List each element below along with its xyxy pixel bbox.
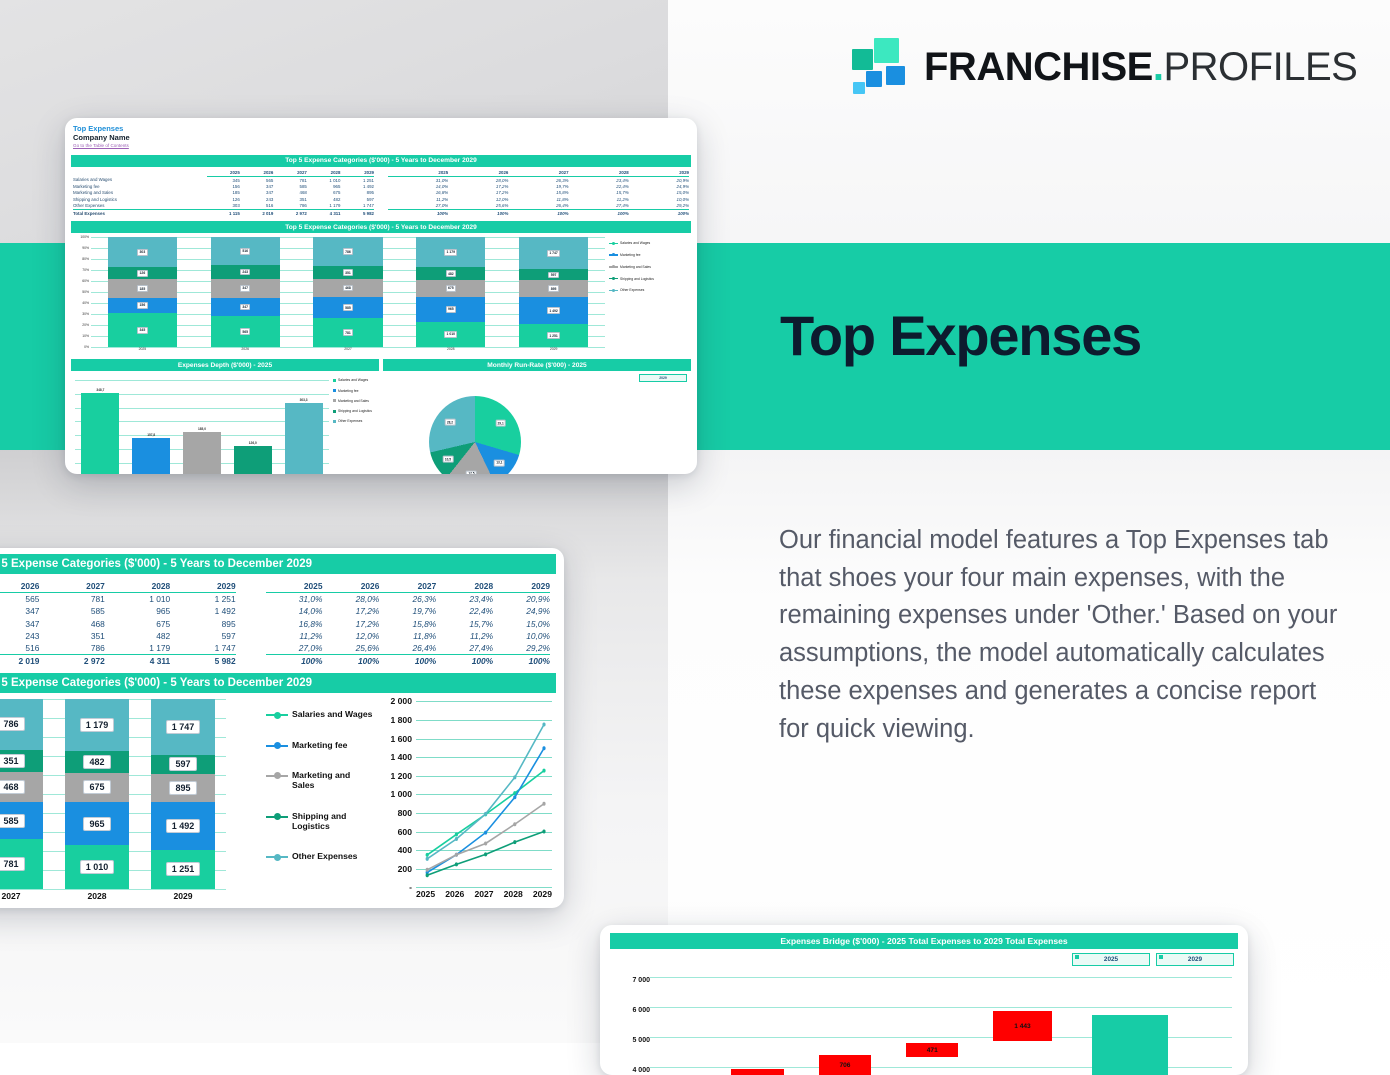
segment-value: 585 <box>343 304 353 311</box>
year-button-2029[interactable]: 2029 <box>1156 953 1234 966</box>
cell: 100% <box>493 655 550 668</box>
segment-value: 243 <box>240 269 250 276</box>
bar-value-label: 185,0 <box>198 427 206 431</box>
bar-value-label: 348,7 <box>96 388 104 392</box>
legend-label: Marketing and Sales <box>620 265 651 269</box>
cell: 1 179 <box>105 642 170 655</box>
stack-segment: 303 <box>108 237 177 267</box>
bar-wrapper: 303,3 <box>285 380 323 474</box>
line-data-point <box>513 823 516 827</box>
x-tick-label: 2027 <box>474 889 493 899</box>
line-data-point <box>426 853 429 857</box>
sheet-title: Top Expenses <box>73 124 697 133</box>
waterfall-plot: 7 0006 0005 0004 000 7064711 443 <box>600 971 1248 1075</box>
year-button-2025[interactable]: 2025 <box>1072 953 1150 966</box>
segment-value: 156 <box>137 302 147 309</box>
cell: 29,2% <box>493 642 550 655</box>
line-data-point <box>513 776 516 780</box>
y-tick-label: 40% <box>82 301 89 305</box>
col-year: 2026 <box>0 580 39 593</box>
segment-value: 351 <box>0 754 25 768</box>
cell: 26,4% <box>508 203 568 210</box>
banner-monthly-run-rate: Monthly Run-Rate ($'000) - 2025 <box>383 359 691 371</box>
table-header-row: 2025 2026 2027 2028 2029 <box>73 170 374 177</box>
legend-item: Shipping and Logistics <box>609 277 691 281</box>
legend-marker <box>609 266 618 267</box>
cell: 303 <box>207 203 240 210</box>
cell: 15,0% <box>493 618 550 630</box>
cell: 23,4% <box>569 177 629 184</box>
cell: 11,8% <box>379 630 436 642</box>
segment-value: 786 <box>0 717 25 731</box>
bar <box>234 446 272 474</box>
banner-categories-chart: Top 5 Expense Categories ($'000) - 5 Yea… <box>0 673 556 693</box>
cell: 895 <box>170 618 235 630</box>
col-year: 2025 <box>207 170 240 177</box>
stacked-column: 565347347243516 <box>211 237 280 347</box>
gridline <box>416 887 552 888</box>
chart-y-axis: 2 0001 8001 6001 4001 2001 0008006004002… <box>374 701 416 887</box>
year-selector-group[interactable]: 2025 2029 <box>1072 953 1234 966</box>
screenshot-card-top-expenses[interactable]: Top Expenses Company Name Go to the Tabl… <box>65 118 697 474</box>
x-tick-label: 2025 <box>416 889 435 899</box>
line-data-point <box>542 802 545 806</box>
table-row: 5167861 1791 747 <box>0 642 236 655</box>
segment-value: 675 <box>446 285 456 292</box>
segment-value: 781 <box>343 329 353 336</box>
stack-segment: 895 <box>519 280 588 297</box>
stack-segment: 126 <box>108 267 177 279</box>
table-total-row: Total Expenses1 1152 0192 9724 3115 982 <box>73 209 374 216</box>
legend-label: Marketing fee <box>620 253 641 257</box>
cell: 516 <box>0 642 39 655</box>
cell: 100% <box>629 209 689 216</box>
table-header-row: 2025 2026 2027 2028 2029 <box>388 170 689 177</box>
segment-value: 786 <box>343 248 353 255</box>
legend-marker <box>609 243 618 244</box>
stack-segment: 781 <box>0 839 43 889</box>
stack-segment: 1 747 <box>151 699 216 754</box>
legend-item: Other Expenses <box>266 851 374 861</box>
bar-value-label: 303,3 <box>300 398 308 402</box>
cell: 20,9% <box>629 177 689 184</box>
stack-segment: 468 <box>0 772 43 802</box>
banner-top-5-categories: Top 5 Expense Categories ($'000) - 5 Yea… <box>71 155 691 167</box>
chart-stacked-detail[interactable]: 7815854683517861 0109656754821 1791 2511… <box>0 695 266 908</box>
cell: 781 <box>273 177 307 184</box>
logo-square-5 <box>853 82 865 94</box>
cell: 5 982 <box>340 209 374 216</box>
cell: 565 <box>240 177 274 184</box>
segment-value: 965 <box>83 817 110 831</box>
cell: 1 251 <box>340 177 374 184</box>
year-selector-2029[interactable]: 2029 <box>639 374 687 382</box>
bar <box>132 438 170 474</box>
y-tick-label: 1 800 <box>390 715 412 725</box>
bar-wrapper: 157,8 <box>132 380 170 474</box>
waterfall-bar: 706 <box>819 1055 871 1075</box>
stack-segment: 585 <box>0 802 43 839</box>
logo-pixel-mark <box>852 38 908 96</box>
row-label: Salaries and Wages <box>73 177 207 184</box>
line-data-point <box>542 747 545 751</box>
tables-row: 2026 2027 2028 2029 5657811 0101 251 347… <box>0 574 564 667</box>
col-year: 2029 <box>629 170 689 177</box>
table-row: 3475859651 492 <box>0 605 236 617</box>
x-tick-label: 2027 <box>344 347 352 351</box>
bar <box>81 393 119 474</box>
stacked-column: 1 2511 4928955971 747 <box>519 237 588 347</box>
segment-value: 1 492 <box>547 307 560 314</box>
chart-x-axis: 20252026202720282029 <box>416 889 552 899</box>
cell: 100% <box>569 209 629 216</box>
stack-segment: 1 179 <box>65 699 130 751</box>
table-row: 243351482597 <box>0 630 236 642</box>
table-values: 2025 2026 2027 2028 2029 Salaries and Wa… <box>73 170 374 217</box>
cell: 243 <box>0 630 39 642</box>
cell: 2 972 <box>273 209 307 216</box>
x-tick-label: 2026 <box>445 889 464 899</box>
chart-line-detail[interactable]: 2 0001 8001 6001 4001 2001 0008006004002… <box>374 695 564 908</box>
line-data-point <box>455 863 458 867</box>
cell: 26,3% <box>508 177 568 184</box>
x-tick-label: 2029 <box>550 347 558 351</box>
cell: 17,2% <box>323 605 380 617</box>
stack-segment: 1 251 <box>519 324 588 347</box>
cell: 597 <box>170 630 235 642</box>
y-tick-label: 30% <box>82 312 89 316</box>
logo-text-dot: . <box>1153 45 1164 89</box>
cell: 28,0% <box>323 593 380 606</box>
charts-row-bottom: 348,7157,8185,0126,0303,3 Salaries and W… <box>71 374 691 474</box>
banner-expenses-depth: Expenses Depth ($'000) - 2025 <box>71 359 379 371</box>
legend-label: Marketing and Sales <box>338 399 369 403</box>
logo-square-1 <box>874 38 899 63</box>
y-tick-label: 10% <box>82 334 89 338</box>
legend-marker <box>609 278 618 279</box>
page-title: Top Expenses <box>780 307 1141 366</box>
stack-segment: 347 <box>211 298 280 317</box>
segment-value: 185 <box>137 285 147 292</box>
chart-y-axis: 100%90%80%70%60%50%40%30%20%10%0% <box>71 237 91 347</box>
legend-marker <box>609 254 618 255</box>
stack-segment: 243 <box>211 265 280 278</box>
segment-value: 1 010 <box>444 331 457 338</box>
col-year: 2027 <box>39 580 104 593</box>
y-tick-label: 200 <box>398 864 412 874</box>
legend-item: Marketing fee <box>333 389 381 393</box>
bar-value-label: 126,0 <box>249 441 257 445</box>
y-tick-label: 60% <box>82 279 89 283</box>
stacked-column: 1 2511 4928955971 747 <box>151 699 216 889</box>
cell: 25,6% <box>448 203 508 210</box>
cell: 16,8% <box>266 618 323 630</box>
pie-data-labels: 29,113,117,510,528,2 <box>429 396 521 474</box>
y-tick-label: - <box>409 882 412 892</box>
sheet-tables: 2025 2026 2027 2028 2029 Salaries and Wa… <box>65 167 697 217</box>
y-tick-label: 1 400 <box>390 752 412 762</box>
stack-segment: 482 <box>65 751 130 772</box>
banner-row-depth-runrate: Expenses Depth ($'000) - 2025 Monthly Ru… <box>71 359 691 371</box>
cell: 100% <box>388 209 448 216</box>
stacked-column: 1 0109656754821 179 <box>416 237 485 347</box>
table-percent-detail: 2025 2026 2027 2028 2029 31,0%28,0%26,3%… <box>266 580 550 667</box>
segment-value: 781 <box>0 857 25 871</box>
pie-slice-label: 10,5 <box>443 456 454 463</box>
line-data-point <box>455 853 458 857</box>
cell: 1 179 <box>307 203 341 210</box>
table-row: 16,8%17,2%15,8%15,7%15,0% <box>266 618 550 630</box>
sheet-company: Company Name <box>73 133 697 142</box>
chart-monthly-run-rate-pie[interactable]: 2029 29,113,117,510,528,2 <box>381 374 691 474</box>
legend-label: Marketing and Sales <box>292 770 374 791</box>
table-row: 347468675895 <box>0 618 236 630</box>
segment-value: 345 <box>137 327 147 334</box>
cell: 100% <box>448 209 508 216</box>
col-year: 2027 <box>273 170 307 177</box>
bar-wrapper: 185,0 <box>183 380 221 474</box>
cell: 14,0% <box>266 605 323 617</box>
table-row: 14,0%17,2%19,7%22,4%24,9% <box>266 605 550 617</box>
pie-slice-label: 13,1 <box>494 460 505 467</box>
legend-item: Shipping and Logistics <box>333 409 381 413</box>
stack-segment: 786 <box>0 699 43 749</box>
stack-segment: 156 <box>108 298 177 313</box>
x-tick-label: 2028 <box>504 889 523 899</box>
line-data-point <box>542 723 545 727</box>
stack-segment: 675 <box>416 280 485 297</box>
y-tick-label: 90% <box>82 246 89 250</box>
legend-marker <box>266 714 288 716</box>
line-data-point <box>542 830 545 834</box>
segment-value: 1 747 <box>166 720 201 734</box>
chart-x-axis: 20252026202720282029 <box>91 347 605 351</box>
legend-label: Salaries and Wages <box>292 709 372 719</box>
chart-x-axis: 202720282029 <box>0 891 226 901</box>
logo-square-4 <box>866 71 882 87</box>
cell: 100% <box>266 655 323 668</box>
stack-segment: 597 <box>151 755 216 774</box>
bar <box>285 403 323 474</box>
waterfall-bars: 7064711 443 <box>650 971 1232 1075</box>
chart-stacked-100[interactable]: 100%90%80%70%60%50%40%30%20%10%0% 345156… <box>71 235 691 357</box>
legend-marker <box>266 816 288 818</box>
table-values-detail: 2026 2027 2028 2029 5657811 0101 251 347… <box>0 580 236 667</box>
cell: 28,0% <box>448 177 508 184</box>
segment-value: 1 251 <box>547 332 560 339</box>
logo-square-2 <box>852 49 873 70</box>
stacked-column: 1 0109656754821 179 <box>65 699 130 889</box>
table-row: 27,0%25,6%26,4%27,4%29,2% <box>266 642 550 655</box>
legend-item: Marketing and Sales <box>266 770 374 791</box>
cell: 565 <box>0 593 39 606</box>
segment-value: 468 <box>343 285 353 292</box>
bar-wrapper: 126,0 <box>234 380 272 474</box>
cell: 1 251 <box>170 593 235 606</box>
chart-y-axis: 7 0006 0005 0004 000 <box>606 971 650 1075</box>
pie-slice-label: 28,2 <box>445 419 456 426</box>
chart-columns: 7815854683517861 0109656754821 1791 2511… <box>0 699 226 889</box>
cell: 2 972 <box>39 655 104 668</box>
x-tick-label: 2026 <box>241 347 249 351</box>
cell: 585 <box>39 605 104 617</box>
cell: 19,7% <box>379 605 436 617</box>
y-tick-label: 1 000 <box>390 789 412 799</box>
table-total-row: 2 0192 9724 3115 982 <box>0 655 236 668</box>
stack-segment: 516 <box>211 237 280 265</box>
x-tick-label: 2025 <box>139 347 147 351</box>
cell: 15,8% <box>379 618 436 630</box>
table-row: 27,0%25,6%26,4%27,4%29,2% <box>388 203 689 210</box>
logo-wordmark: FRANCHISE.PROFILES <box>924 47 1357 87</box>
legend-label: Other Expenses <box>620 288 644 292</box>
stack-segment: 468 <box>313 279 382 296</box>
y-tick-label: 70% <box>82 268 89 272</box>
cell: 25,6% <box>323 642 380 655</box>
bar <box>183 432 221 474</box>
stack-segment: 895 <box>151 774 216 803</box>
x-tick-label: 2028 <box>447 347 455 351</box>
segment-value: 516 <box>240 248 250 255</box>
segment-value: 1 747 <box>547 250 560 257</box>
background-white-top-right <box>668 0 1390 243</box>
cell: 31,0% <box>388 177 448 184</box>
legend-label: Salaries and Wages <box>338 378 368 382</box>
stack-segment: 781 <box>313 318 382 347</box>
stack-segment: 1 492 <box>151 802 216 849</box>
cell: 29,2% <box>629 203 689 210</box>
col-year: 2028 <box>569 170 629 177</box>
cell: 347 <box>0 618 39 630</box>
legend-label: Marketing fee <box>292 740 347 750</box>
cell: 17,2% <box>323 618 380 630</box>
chart-expenses-depth[interactable]: 348,7157,8185,0126,0303,3 Salaries and W… <box>71 374 381 474</box>
cell: 26,3% <box>379 593 436 606</box>
cell: 786 <box>273 203 307 210</box>
col-year: 2027 <box>508 170 568 177</box>
legend-item: Salaries and Wages <box>609 241 691 245</box>
table-total-row: 100%100%100%100%100% <box>266 655 550 668</box>
legend-label: Marketing fee <box>338 389 359 393</box>
screenshot-card-expenses-bridge[interactable]: Expenses Bridge ($'000) - 2025 Total Exp… <box>600 925 1248 1075</box>
segment-value: 895 <box>548 285 558 292</box>
line-data-point <box>484 831 487 835</box>
segment-value: 482 <box>446 270 456 277</box>
waterfall-bar: 471 <box>906 1043 958 1057</box>
col-year: 2025 <box>388 170 448 177</box>
stack-segment: 351 <box>0 750 43 772</box>
segment-value: 585 <box>0 814 25 828</box>
y-tick-label: 50% <box>82 290 89 294</box>
line-series <box>416 701 552 887</box>
toc-link[interactable]: Go to the Table of Contents <box>73 143 697 150</box>
banner-categories-table: Top 5 Expense Categories ($'000) - 5 Yea… <box>0 554 556 574</box>
cell: 27,4% <box>569 203 629 210</box>
line-data-point <box>455 833 458 837</box>
logo-text-bold: FRANCHISE <box>924 45 1153 89</box>
segment-value: 126 <box>137 270 147 277</box>
cell: 2 019 <box>0 655 39 668</box>
cell: 15,7% <box>436 618 493 630</box>
cell: 345 <box>207 177 240 184</box>
legend-item: Salaries and Wages <box>333 378 381 382</box>
cell: 1 747 <box>170 642 235 655</box>
stack-segment: 597 <box>519 269 588 280</box>
cell: 100% <box>508 209 568 216</box>
col-year: 2027 <box>379 580 436 593</box>
y-tick-label: 80% <box>82 257 89 261</box>
segment-value: 468 <box>0 780 25 794</box>
cell: 22,4% <box>436 605 493 617</box>
cell: 468 <box>39 618 104 630</box>
row-label: Other Expenses <box>73 203 207 210</box>
cell: 23,4% <box>436 593 493 606</box>
segment-value: 1 492 <box>166 819 201 833</box>
line-data-point <box>484 853 487 857</box>
chart-columns: 3451561851263035653473472435167815854683… <box>91 237 605 347</box>
chart-legend-detail: Salaries and WagesMarketing feeMarketing… <box>266 695 374 908</box>
y-tick-label: 7 000 <box>632 977 650 984</box>
stack-segment: 965 <box>416 297 485 322</box>
segment-value: 347 <box>240 285 250 292</box>
line-data-point <box>542 769 545 773</box>
pie-slice-label: 29,1 <box>495 420 506 427</box>
cell: 781 <box>39 593 104 606</box>
cell: 5 982 <box>170 655 235 668</box>
table-header-row: 2025 2026 2027 2028 2029 <box>266 580 550 593</box>
waterfall-bar <box>731 1069 783 1075</box>
screenshot-card-categories-detail[interactable]: Top 5 Expense Categories ($'000) - 5 Yea… <box>0 548 564 908</box>
sheet-header: Top Expenses Company Name Go to the Tabl… <box>65 118 697 150</box>
brand-logo: FRANCHISE.PROFILES <box>852 38 1357 96</box>
table-row: 31,0%28,0%26,3%23,4%20,9% <box>266 593 550 606</box>
stack-segment: 1 251 <box>151 850 216 890</box>
col-year: 2026 <box>323 580 380 593</box>
line-data-point <box>426 868 429 872</box>
legend-item: Marketing fee <box>609 253 691 257</box>
year-button-2029[interactable]: 2029 <box>639 374 687 382</box>
stack-segment: 1 010 <box>65 845 130 889</box>
banner-top-5-categories-chart: Top 5 Expense Categories ($'000) - 5 Yea… <box>71 221 691 233</box>
cell: 2 019 <box>240 209 274 216</box>
cell: 965 <box>105 605 170 617</box>
cell: 11,2% <box>436 630 493 642</box>
segment-value: 597 <box>548 272 558 279</box>
legend-item: Marketing and Sales <box>609 265 691 269</box>
cell: 1 010 <box>105 593 170 606</box>
segment-value: 675 <box>83 780 110 794</box>
y-tick-label: 4 000 <box>632 1067 650 1074</box>
charts-row-detail: 7815854683517861 0109656754821 1791 2511… <box>0 695 564 908</box>
legend-marker <box>266 745 288 747</box>
legend-item: Other Expenses <box>333 419 381 423</box>
segment-value: 597 <box>169 757 196 771</box>
legend-label: Shipping and Logistics <box>620 277 654 281</box>
legend-label: Shipping and Logistics <box>292 811 374 832</box>
cell: 12,0% <box>323 630 380 642</box>
line-data-point <box>484 842 487 846</box>
bar-value-label: 157,8 <box>147 433 155 437</box>
line-data-point <box>426 874 429 878</box>
table-row: Salaries and Wages3455657811 0101 251 <box>73 177 374 184</box>
legend-label: Salaries and Wages <box>620 241 650 245</box>
y-tick-label: 100% <box>80 235 89 239</box>
stack-segment: 675 <box>65 773 130 803</box>
y-tick-label: 1 200 <box>390 771 412 781</box>
stacked-column: 781585468351786 <box>313 237 382 347</box>
legend-label: Shipping and Logistics <box>338 409 372 413</box>
y-tick-label: 0% <box>84 345 89 349</box>
